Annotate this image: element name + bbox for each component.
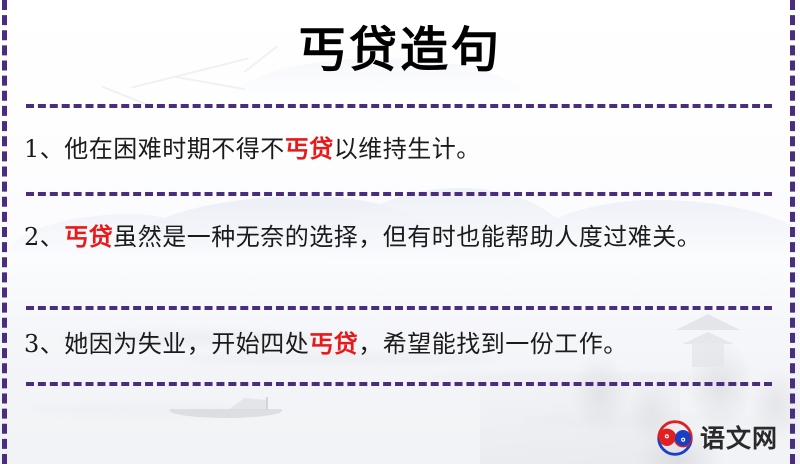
site-logo: 语文网 <box>657 420 778 456</box>
keyword-highlight-3: 丐贷 <box>309 329 358 358</box>
divider-line-3 <box>26 306 772 310</box>
sentence-number-2: 2、 <box>24 223 64 251</box>
sentence-number-3: 3、 <box>24 330 64 358</box>
slide-page: 丐贷造句 1、他在困难时期不得不丐贷以维持生计。 2、丐贷虽然是一种无奈的选择，… <box>0 0 800 464</box>
sentence-text-after-1: 以维持生计。 <box>334 135 481 163</box>
keyword-highlight-2: 丐贷 <box>64 222 113 251</box>
divider-line-2 <box>26 192 772 196</box>
sentence-item-2: 2、丐贷虽然是一种无奈的选择，但有时也能帮助人度过难关。 <box>24 215 768 259</box>
site-logo-text: 语文网 <box>700 426 778 451</box>
sentence-text-after-2: 虽然是一种无奈的选择，但有时也能帮助人度过难关。 <box>113 223 701 251</box>
sentence-text-before-1: 他在困难时期不得不 <box>64 135 285 163</box>
divider-line-4 <box>26 382 772 386</box>
divider-line-1 <box>26 104 772 108</box>
sentence-number-1: 1、 <box>24 135 64 163</box>
sentence-text-after-3: ，希望能找到一份工作。 <box>358 330 628 358</box>
page-title: 丐贷造句 <box>0 22 800 78</box>
sentence-text-before-3: 她因为失业，开始四处 <box>64 330 309 358</box>
keyword-highlight-1: 丐贷 <box>285 134 334 163</box>
content-area: 丐贷造句 1、他在困难时期不得不丐贷以维持生计。 2、丐贷虽然是一种无奈的选择，… <box>0 0 800 464</box>
sentence-item-3: 3、她因为失业，开始四处丐贷，希望能找到一份工作。 <box>24 322 768 366</box>
yin-yang-circle-logo-icon <box>657 420 693 456</box>
sentence-item-1: 1、他在困难时期不得不丐贷以维持生计。 <box>24 127 768 171</box>
